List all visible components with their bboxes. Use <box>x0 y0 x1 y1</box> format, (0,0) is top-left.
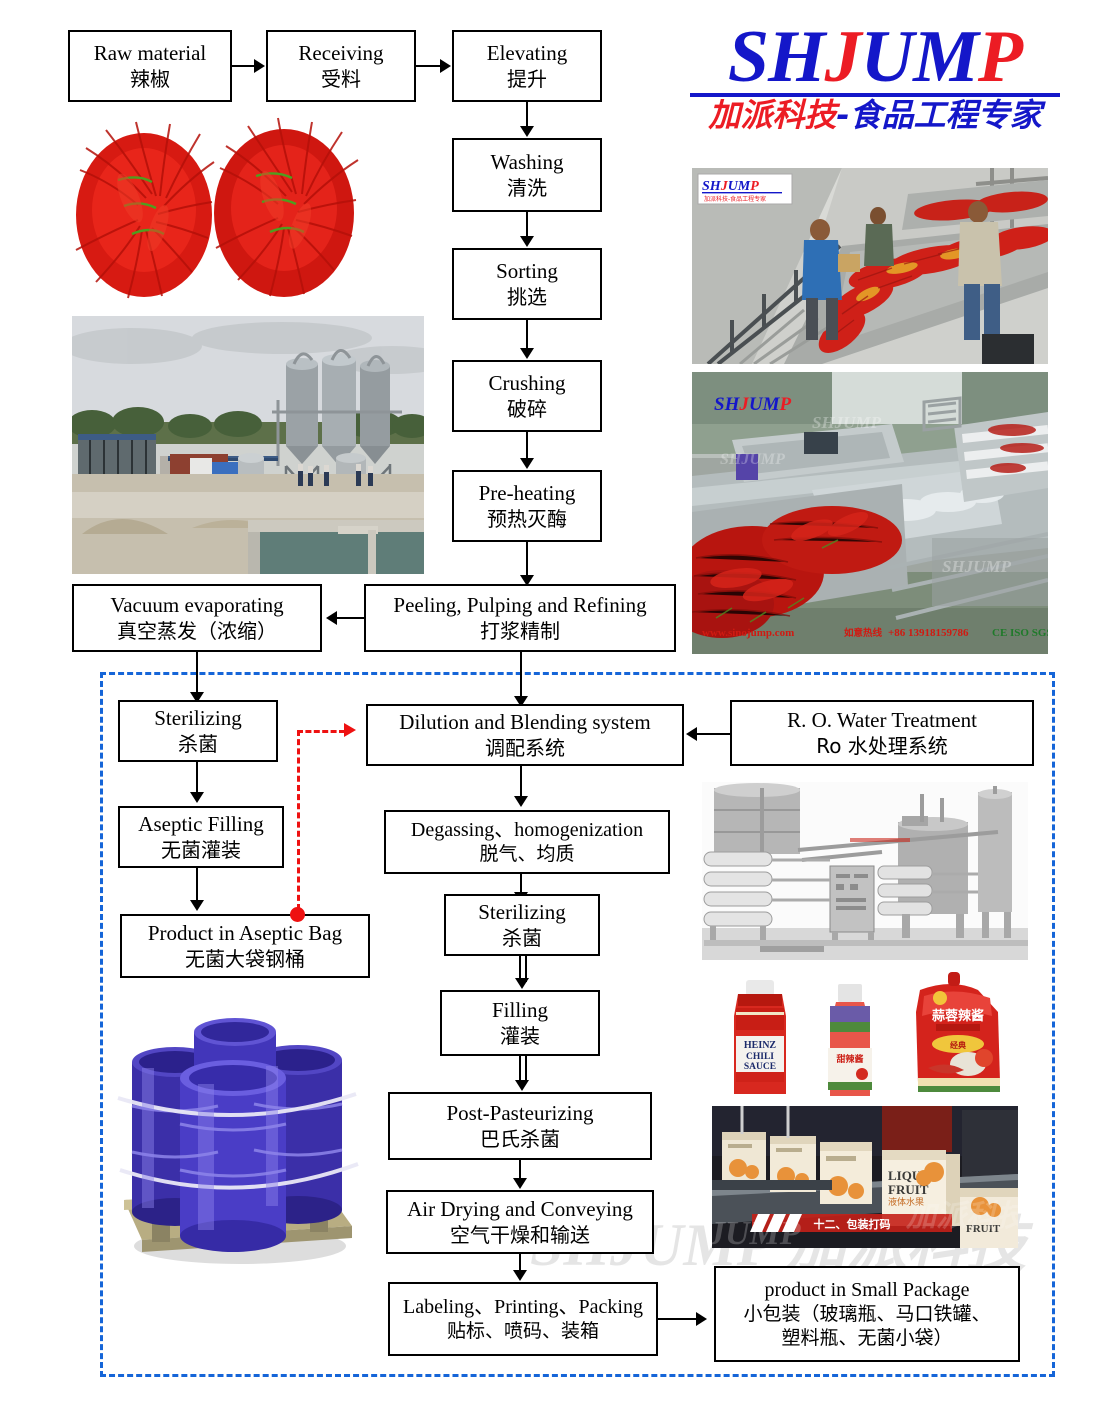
box-dilution-blending[interactable]: Dilution and Blending system 调配系统 <box>366 704 684 766</box>
process-flow-diagram: SHJUMP 加派科技-食品工程专家 <box>0 0 1105 1414</box>
box-elevating-cn: 提升 <box>507 67 547 92</box>
photo-blue-steel-drums-on-pallet <box>112 1002 360 1268</box>
box-post-pasteurizing[interactable]: Post-Pasteurizing 巴氏杀菌 <box>388 1092 652 1160</box>
box-filling-cn: 灌装 <box>500 1024 540 1049</box>
svg-text:加派科技: 加派科技 <box>905 1199 1018 1234</box>
svg-text:SHJUMP: SHJUMP <box>812 413 882 432</box>
box-washing-en: Washing <box>491 149 564 175</box>
logo-part-sh: SH <box>728 16 825 98</box>
svg-text:CHILI: CHILI <box>746 1052 774 1062</box>
box-ro-water-treatment[interactable]: R. O. Water Treatment Ro 水处理系统 <box>730 700 1034 766</box>
logo-tagline-blue: -食品工程专家 <box>836 96 1041 134</box>
box-washing[interactable]: Washing 清洗 <box>452 138 602 212</box>
box-air-drying-en: Air Drying and Conveying <box>407 1196 633 1222</box>
box-dilution-cn: 调配系统 <box>485 736 565 761</box>
svg-text:SHJUMP: SHJUMP <box>942 557 1012 576</box>
photo-chili-sauce-retail-products: HEINZ CHILI SAUCE 甜辣酱 <box>712 972 1018 1100</box>
box-vacuum-en: Vacuum evaporating <box>110 592 283 618</box>
box-sorting-cn: 挑选 <box>507 285 547 310</box>
box-peeling-cn: 打浆精制 <box>480 619 560 644</box>
box-peeling-en: Peeling, Pulping and Refining <box>393 592 646 618</box>
arrow-peeling-to-vacuum <box>326 611 337 625</box>
arrow-labeling-to-small-package <box>696 1312 707 1326</box>
logo-part-p: P <box>978 16 1022 98</box>
box-product-in-aseptic-bag[interactable]: Product in Aseptic Bag 无菌大袋钢桶 <box>120 914 370 978</box>
box-receiving-cn: 受料 <box>321 67 361 92</box>
svg-text:SHJUMP: SHJUMP <box>714 394 791 415</box>
svg-text:SHJUMP: SHJUMP <box>720 451 785 468</box>
photo-liquid-fruit-carton-packing-line: LIQUID FRUIT 液体水果 FRUIT 十二、包装打码 JUMP 加派科… <box>712 1106 1018 1248</box>
arrow-ro-to-dilution <box>686 727 697 741</box>
svg-text:经典: 经典 <box>950 1040 966 1050</box>
arrow-sterilizing-to-aseptic-filling <box>190 792 204 803</box>
box-sorting-en: Sorting <box>496 258 558 284</box>
arrow-raw-to-receiving <box>254 59 265 73</box>
svg-text:甜辣酱: 甜辣酱 <box>836 1053 863 1065</box>
box-small-package-cn: 小包装（玻璃瓶、马口铁罐、 <box>743 1303 990 1327</box>
svg-text:+86 13918159786: +86 13918159786 <box>888 627 969 639</box>
shjump-logo: SHJUMP 加派科技-食品工程专家 <box>690 22 1060 133</box>
logo-wordmark: SHJUMP <box>690 22 1060 92</box>
red-connector-dot <box>290 907 305 922</box>
box-aseptic-bag-en: Product in Aseptic Bag <box>148 920 342 946</box>
arrow-air-drying-to-labeling <box>513 1270 527 1281</box>
red-feedback-vertical <box>297 730 300 910</box>
svg-text:HEINZ: HEINZ <box>744 1040 777 1051</box>
box-sorting[interactable]: Sorting 挑选 <box>452 248 602 320</box>
box-receiving-en: Receiving <box>298 40 383 66</box>
box-ro-water-en: R. O. Water Treatment <box>787 707 977 733</box>
box-air-drying-conveying[interactable]: Air Drying and Conveying 空气干燥和输送 <box>386 1190 654 1254</box>
svg-text:SHJUMP: SHJUMP <box>702 179 759 194</box>
box-sterilizing-mid[interactable]: Sterilizing 杀菌 <box>444 894 600 956</box>
red-feedback-horizontal <box>297 730 345 733</box>
svg-text:加派科技-食品工程专家: 加派科技-食品工程专家 <box>704 195 766 203</box>
box-post-pasteurizing-en: Post-Pasteurizing <box>447 1100 594 1126</box>
photo-vacuum-evaporation-plant <box>72 316 424 574</box>
logo-tagline: 加派科技-食品工程专家 <box>690 99 1060 133</box>
box-receiving[interactable]: Receiving 受料 <box>266 30 416 102</box>
box-sterilizing-left[interactable]: Sterilizing 杀菌 <box>118 700 278 762</box>
box-pre-heating-en: Pre-heating <box>479 480 576 506</box>
logo-tagline-red: 加派科技 <box>708 96 836 134</box>
box-crushing-cn: 破碎 <box>507 397 547 422</box>
box-aseptic-filling-cn: 无菌灌装 <box>161 838 241 863</box>
box-ro-water-cn: Ro 水处理系统 <box>816 734 948 759</box>
photo-ro-water-treatment-equipment <box>702 782 1028 960</box>
arrow-sterilizing-to-filling <box>515 978 529 989</box>
box-filling[interactable]: Filling 灌装 <box>440 990 600 1056</box>
logo-part-um: UM <box>861 16 978 98</box>
box-small-package-cn2: 塑料瓶、无菌小袋） <box>781 1327 952 1351</box>
box-degassing-homogenization[interactable]: Degassing、homogenization 脱气、均质 <box>384 810 670 874</box>
box-dilution-en: Dilution and Blending system <box>399 709 650 735</box>
arrow-sorting-to-crushing <box>520 348 534 359</box>
arrow-dilution-to-degassing <box>514 796 528 807</box>
arrow-post-pasteurizing-to-air-drying <box>513 1178 527 1189</box>
box-vacuum-evaporating[interactable]: Vacuum evaporating 真空蒸发（浓缩） <box>72 584 322 652</box>
arrow-aseptic-filling-to-bag <box>190 900 204 911</box>
box-air-drying-cn: 空气干燥和输送 <box>450 1223 590 1248</box>
arrow-elevating-to-washing <box>520 126 534 137</box>
box-labeling-printing-packing[interactable]: Labeling、Printing、Packing 贴标、喷码、装箱 <box>388 1282 658 1356</box>
connector-peeling-to-dilution <box>520 652 522 702</box>
box-peeling-pulping-refining[interactable]: Peeling, Pulping and Refining 打浆精制 <box>364 584 676 652</box>
box-sterilizing-left-en: Sterilizing <box>154 705 242 731</box>
arrow-washing-to-sorting <box>520 236 534 247</box>
box-crushing[interactable]: Crushing 破碎 <box>452 360 602 432</box>
arrow-receiving-to-elevating <box>440 59 451 73</box>
photo-red-chili-peppers <box>66 110 366 310</box>
box-aseptic-filling[interactable]: Aseptic Filling 无菌灌装 <box>118 806 284 868</box>
logo-part-j: J <box>825 16 861 98</box>
connector-filling-to-post-pasteurizing-b <box>525 1056 527 1082</box>
box-sterilizing-left-cn: 杀菌 <box>178 732 218 757</box>
box-degassing-cn: 脱气、均质 <box>479 843 574 867</box>
arrow-filling-to-post-pasteurizing <box>515 1080 529 1091</box>
svg-text:蒜蓉辣酱: 蒜蓉辣酱 <box>932 1008 984 1024</box>
connector-peeling-to-vacuum <box>336 617 364 619</box>
box-product-in-small-package[interactable]: product in Small Package 小包装（玻璃瓶、马口铁罐、 塑… <box>714 1266 1020 1362</box>
svg-text:www.sinojump.com: www.sinojump.com <box>702 627 794 639</box>
svg-text:JUMP: JUMP <box>712 1215 801 1248</box>
box-pre-heating-cn: 预热灭酶 <box>487 507 567 532</box>
box-raw-material-cn: 辣椒 <box>130 67 170 92</box>
box-washing-cn: 清洗 <box>507 176 547 201</box>
box-vacuum-cn: 真空蒸发（浓缩） <box>117 619 277 644</box>
box-pre-heating[interactable]: Pre-heating 预热灭酶 <box>452 470 602 542</box>
box-filling-en: Filling <box>492 997 548 1023</box>
box-degassing-en: Degassing、homogenization <box>411 818 643 843</box>
box-elevating[interactable]: Elevating 提升 <box>452 30 602 102</box>
connector-ro-to-dilution <box>696 733 730 735</box>
box-labeling-en: Labeling、Printing、Packing <box>403 1295 643 1320</box>
svg-text:CE ISO SGS: CE ISO SGS <box>992 627 1048 639</box>
box-sterilizing-mid-cn: 杀菌 <box>502 926 542 951</box>
red-feedback-arrow <box>344 723 356 737</box>
box-aseptic-bag-cn: 无菌大袋钢桶 <box>185 947 305 972</box>
svg-text:SAUCE: SAUCE <box>744 1062 776 1072</box>
box-labeling-cn: 贴标、喷码、装箱 <box>447 1320 599 1344</box>
svg-text:十二、包装打码: 十二、包装打码 <box>814 1217 891 1231</box>
box-small-package-en: product in Small Package <box>765 1278 970 1303</box>
box-elevating-en: Elevating <box>487 40 567 66</box>
box-post-pasteurizing-cn: 巴氏杀菌 <box>480 1127 560 1152</box>
box-raw-material[interactable]: Raw material 辣椒 <box>68 30 232 102</box>
box-sterilizing-mid-en: Sterilizing <box>478 899 566 925</box>
box-aseptic-filling-en: Aseptic Filling <box>138 811 263 837</box>
arrow-crushing-to-preheating <box>520 458 534 469</box>
photo-chili-washing-line: SHJUMP SHJUMP SHJUMP SHJUMP www.sinojump… <box>692 372 1048 654</box>
svg-text:如意热线: 如意热线 <box>844 627 883 639</box>
box-crushing-en: Crushing <box>488 370 565 396</box>
photo-chili-sorting-conveyor-line: SHJUMP 加派科技-食品工程专家 <box>692 168 1048 364</box>
box-raw-material-en: Raw material <box>94 40 207 66</box>
